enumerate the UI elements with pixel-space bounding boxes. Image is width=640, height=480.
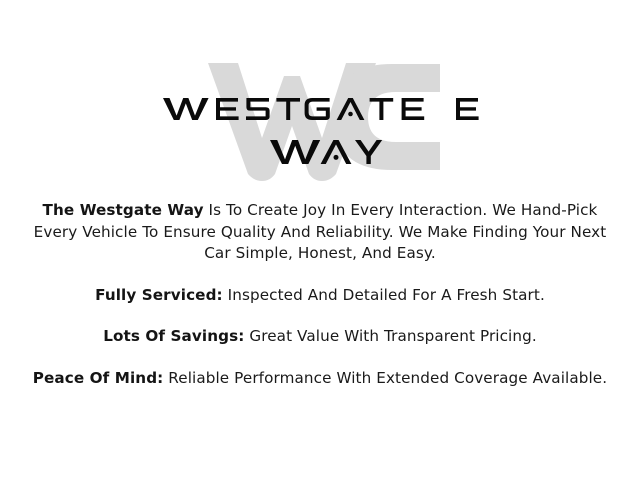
- page-root: The Westgate Way Is To Create Joy In Eve…: [0, 0, 640, 480]
- paragraph-intro-lead: The Westgate Way: [43, 201, 204, 219]
- wordmark-line-westgate: [163, 98, 479, 120]
- westgate-way-wordmark: [0, 52, 640, 182]
- westgate-way-copy: The Westgate Way Is To Create Joy In Eve…: [20, 200, 620, 389]
- paragraph-peace-of-mind: Peace Of Mind: Reliable Performance With…: [20, 368, 620, 390]
- paragraph-intro: The Westgate Way Is To Create Joy In Eve…: [20, 200, 620, 265]
- paragraph-fully-serviced: Fully Serviced: Inspected And Detailed F…: [20, 285, 620, 307]
- paragraph-fully-serviced-body: Inspected And Detailed For A Fresh Start…: [223, 286, 545, 304]
- paragraph-lots-of-savings-body: Great Value With Transparent Pricing.: [244, 327, 536, 345]
- brand-logo-lockup: [0, 52, 640, 182]
- paragraph-lots-of-savings: Lots Of Savings: Great Value With Transp…: [20, 326, 620, 348]
- paragraph-fully-serviced-lead: Fully Serviced:: [95, 286, 223, 304]
- paragraph-peace-of-mind-lead: Peace Of Mind:: [33, 369, 164, 387]
- paragraph-peace-of-mind-body: Reliable Performance With Extended Cover…: [163, 369, 607, 387]
- wordmark-line-way: [270, 140, 382, 164]
- paragraph-lots-of-savings-lead: Lots Of Savings:: [103, 327, 244, 345]
